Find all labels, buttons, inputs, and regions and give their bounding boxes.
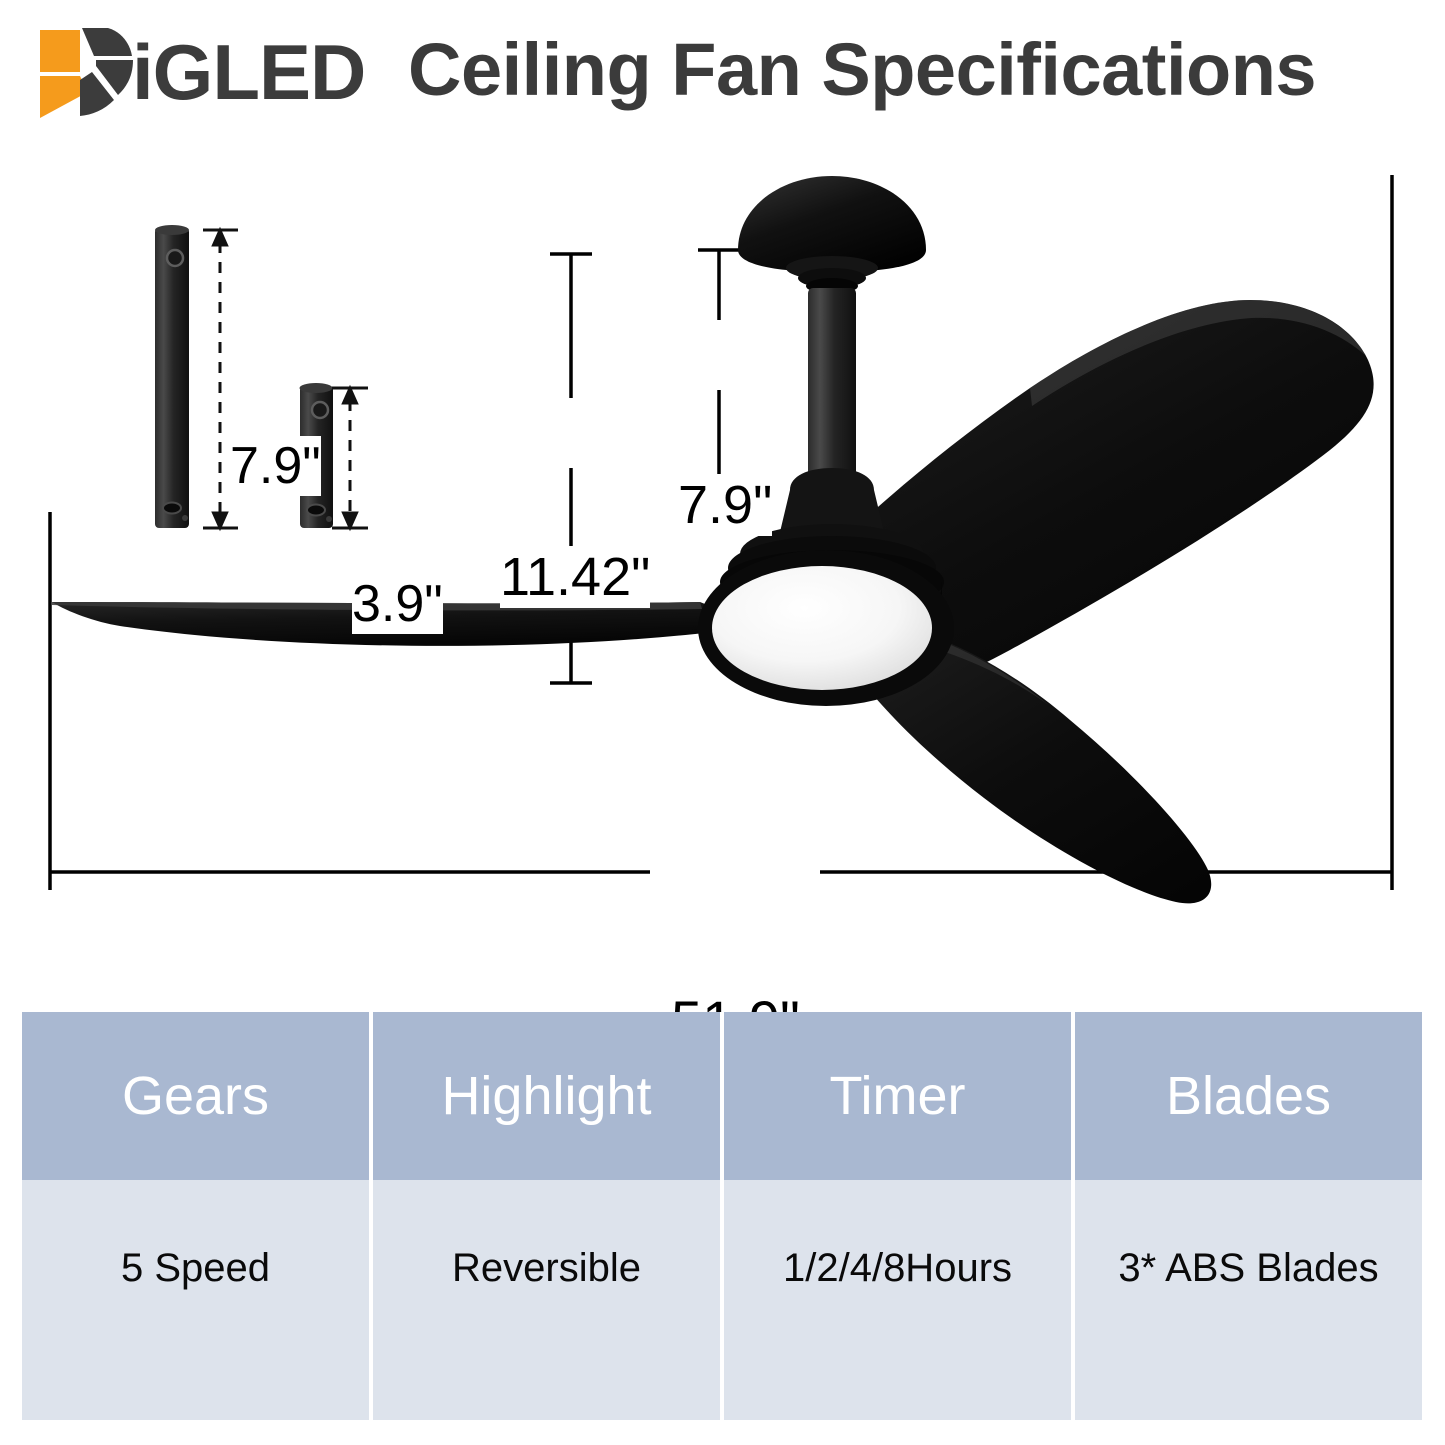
product-dimension-diagram: 7.9" 3.9" 11.42" 7.9" 51.9" xyxy=(0,150,1445,990)
table-header-blades: Blades xyxy=(1075,1012,1422,1180)
table-row: 5 Speed Reversible 1/2/4/8Hours 3* ABS B… xyxy=(22,1180,1422,1420)
table-cell-highlight: Reversible xyxy=(373,1180,724,1420)
ceiling-canopy xyxy=(738,176,926,294)
dimension-label-long-downrod: 7.9" xyxy=(230,436,321,496)
aperture-d-logo-icon xyxy=(36,26,136,118)
spec-sheet-page: iGLED Ceiling Fan Specifications xyxy=(0,0,1445,1445)
dimension-label-canopy-drop: 7.9" xyxy=(678,474,772,536)
fan-illustration xyxy=(0,150,1445,990)
table-header-row: Gears Highlight Timer Blades xyxy=(22,1012,1422,1180)
specification-table: Gears Highlight Timer Blades 5 Speed Rev… xyxy=(22,1012,1422,1420)
downrod xyxy=(808,288,856,496)
page-header: iGLED Ceiling Fan Specifications xyxy=(0,0,1445,150)
table-header-highlight: Highlight xyxy=(373,1012,724,1180)
table-cell-timer: 1/2/4/8Hours xyxy=(724,1180,1075,1420)
table-cell-blades: 3* ABS Blades xyxy=(1075,1180,1422,1420)
dimension-short-downrod xyxy=(332,386,368,530)
led-light-lens xyxy=(698,550,954,706)
long-downrod xyxy=(155,225,189,528)
table-header-gears: Gears xyxy=(22,1012,373,1180)
brand-name: iGLED xyxy=(132,33,365,111)
table-cell-gears: 5 Speed xyxy=(22,1180,373,1420)
dimension-label-total-height: 11.42" xyxy=(500,546,650,608)
table-header-timer: Timer xyxy=(724,1012,1075,1180)
page-title: Ceiling Fan Specifications xyxy=(408,26,1316,115)
dimension-label-short-downrod: 3.9" xyxy=(352,574,443,634)
brand-logo: iGLED xyxy=(36,22,386,122)
